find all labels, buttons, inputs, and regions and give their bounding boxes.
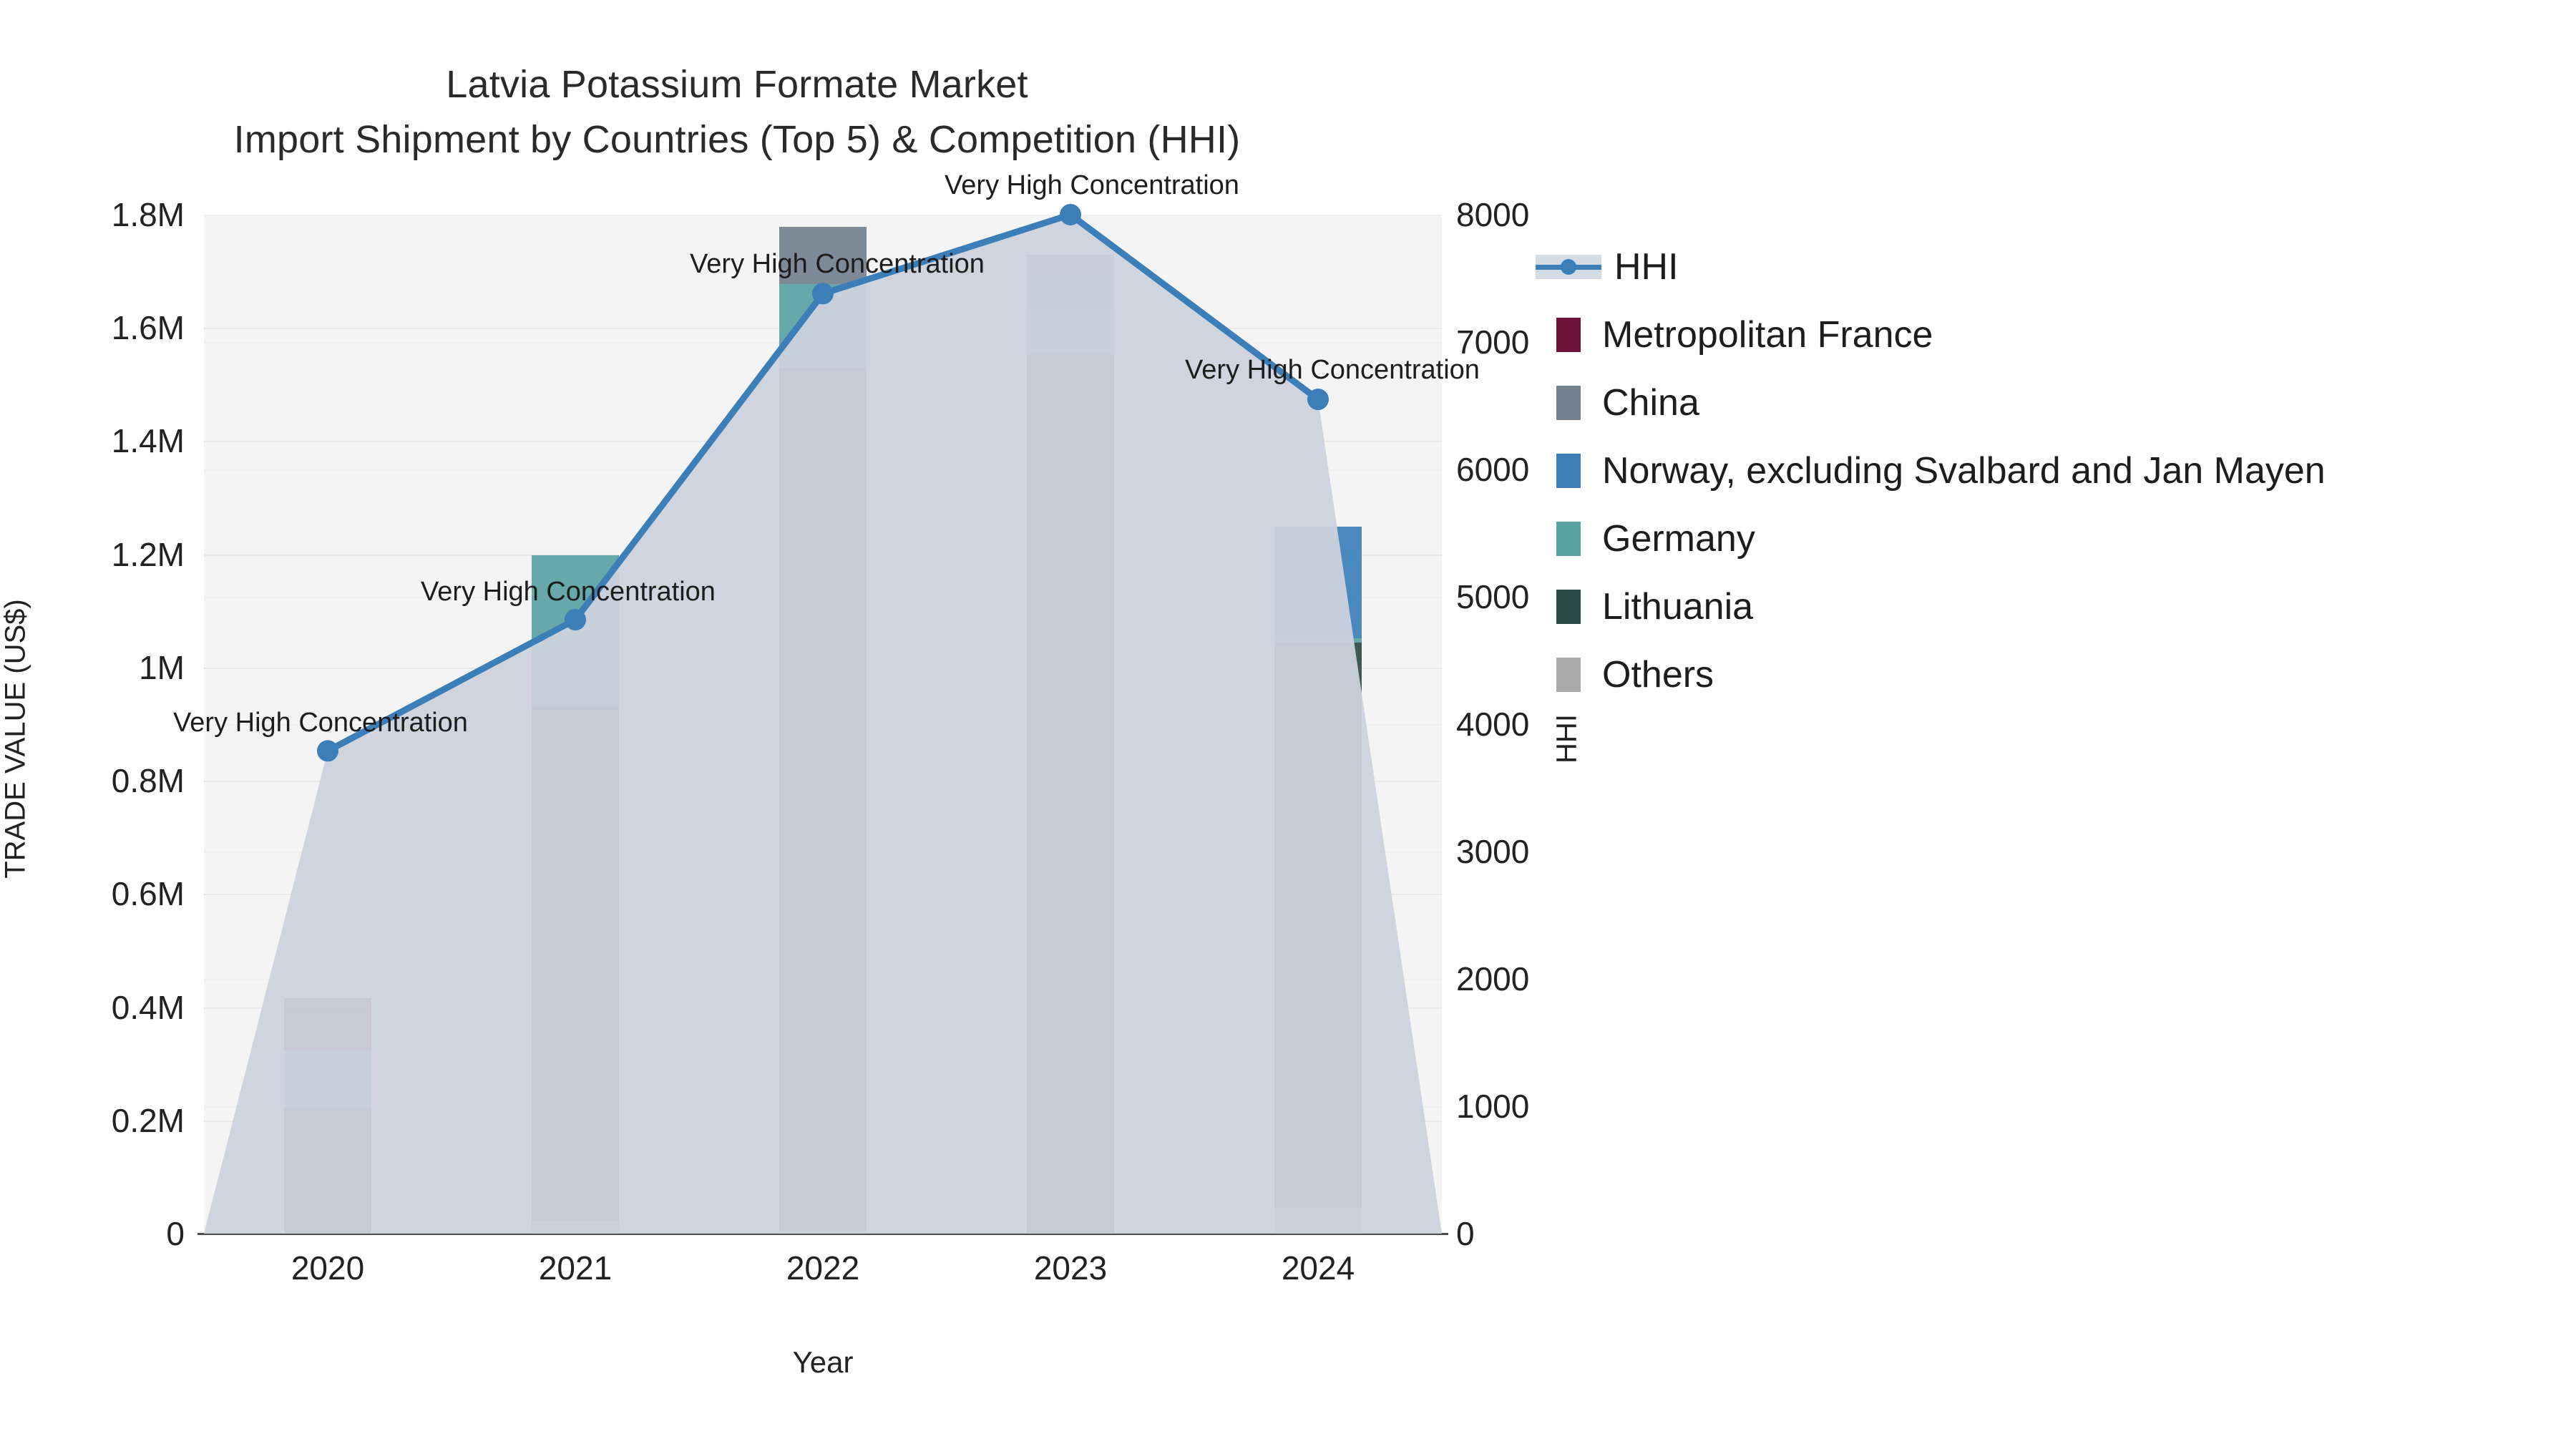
legend-item[interactable]: Lithuania <box>1556 572 2558 640</box>
chart-legend: HHIMetropolitan FranceChinaNorway, exclu… <box>1556 233 2558 708</box>
legend-item-label: Norway, excluding Svalbard and Jan Mayen <box>1602 452 2326 489</box>
legend-item-label: Lithuania <box>1602 588 1753 625</box>
x-axis-title: Year <box>204 1345 1442 1380</box>
y-axis-left-title: TRADE VALUE (US$) <box>0 596 32 882</box>
concentration-annotation: Very High Concentration <box>421 577 716 608</box>
annotations-layer: Very High ConcentrationVery High Concent… <box>0 0 2576 1449</box>
legend-item[interactable]: Metropolitan France <box>1556 301 2558 369</box>
concentration-annotation: Very High Concentration <box>690 249 985 280</box>
legend-item[interactable]: Germany <box>1556 504 2558 572</box>
legend-item-label: China <box>1602 384 1699 421</box>
legend-item[interactable]: Norway, excluding Svalbard and Jan Mayen <box>1556 436 2558 504</box>
legend-item[interactable]: China <box>1556 369 2558 436</box>
legend-color-swatch <box>1556 590 1581 624</box>
legend-color-swatch <box>1556 454 1581 488</box>
legend-item-label: HHI <box>1614 248 1679 286</box>
legend-item-label: Germany <box>1602 520 1755 557</box>
legend-item-label: Metropolitan France <box>1602 316 1933 353</box>
chart-figure: Latvia Potassium Formate Market Import S… <box>0 0 2576 1449</box>
legend-color-swatch <box>1556 658 1581 692</box>
concentration-annotation: Very High Concentration <box>1185 355 1480 386</box>
legend-color-swatch <box>1556 522 1581 556</box>
concentration-annotation: Very High Concentration <box>173 708 468 738</box>
concentration-annotation: Very High Concentration <box>945 170 1239 201</box>
legend-item[interactable]: Others <box>1556 640 2558 708</box>
legend-item-label: Others <box>1602 656 1714 693</box>
legend-item[interactable]: HHI <box>1556 233 2558 301</box>
legend-color-swatch <box>1556 386 1581 420</box>
legend-line-icon <box>1536 255 1601 279</box>
legend-color-swatch <box>1556 318 1581 352</box>
